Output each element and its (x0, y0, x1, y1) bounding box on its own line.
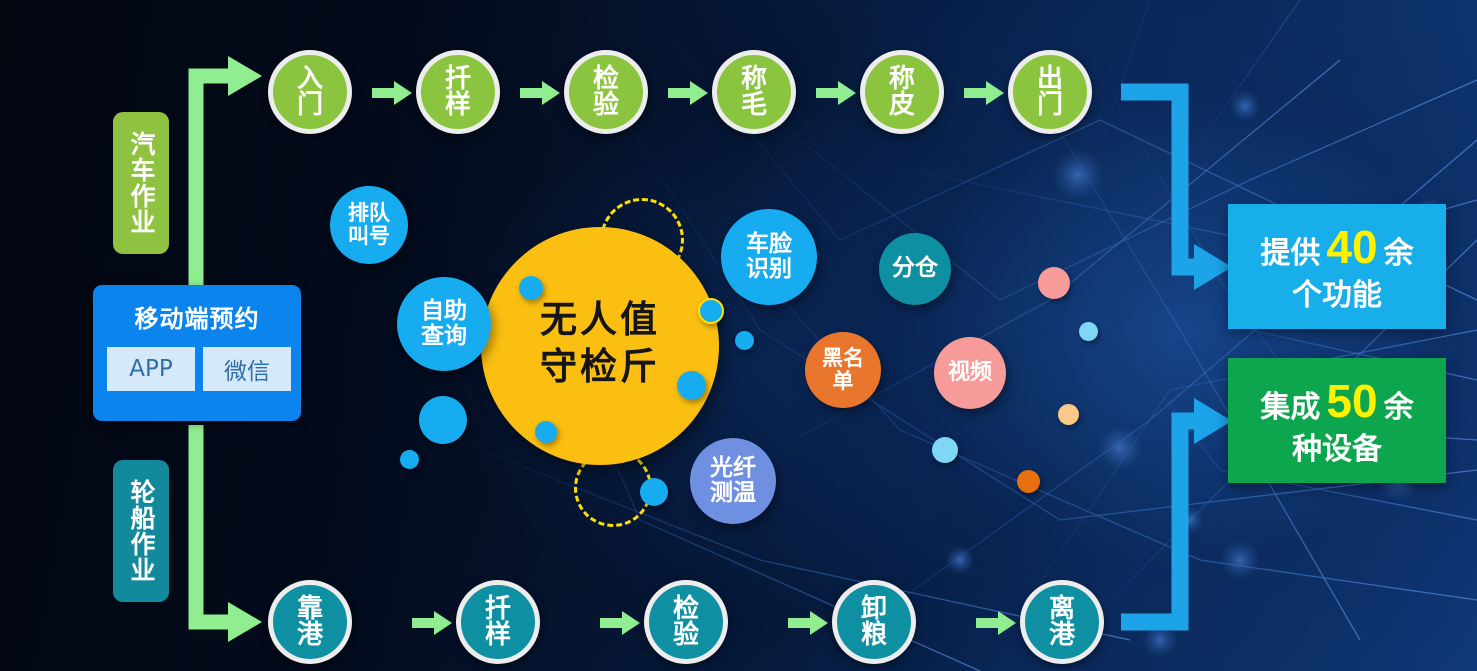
feature-bubble-label: 车脸 (746, 232, 792, 257)
devices-prefix: 集成 (1260, 389, 1320, 427)
feature-bubble-排队叫号[interactable]: 排队叫号 (330, 186, 408, 264)
flow-arrow (964, 80, 1004, 106)
feature-bubble-车脸识别[interactable]: 车脸识别 (721, 209, 817, 305)
flow-arrow (520, 80, 560, 106)
decorative-dot (1017, 470, 1040, 493)
process-node-label: 样 (445, 92, 471, 118)
process-node-卸粮[interactable]: 卸粮 (832, 580, 916, 664)
process-node-label: 卸 (861, 596, 887, 622)
process-node-称毛[interactable]: 称毛 (712, 50, 796, 134)
devices-count: 50 (1320, 373, 1383, 431)
car-lane-tag: 汽车作业 (113, 112, 169, 254)
flow-arrow (600, 610, 640, 636)
process-node-label: 扦 (485, 596, 511, 622)
mobile-booking-title: 移动端预约 (93, 299, 301, 334)
wechat-button[interactable]: 微信 (203, 347, 291, 391)
feature-bubble-黑名单[interactable]: 黑名单 (805, 332, 881, 408)
app-button[interactable]: APP (107, 347, 195, 391)
feature-bubble-label: 叫号 (348, 225, 390, 248)
decorative-dot (932, 437, 958, 463)
flow-arrow (788, 610, 828, 636)
process-node-label: 港 (297, 622, 323, 648)
flow-arrow (412, 610, 452, 636)
process-node-label: 样 (485, 622, 511, 648)
feature-bubble-label: 查询 (421, 324, 467, 349)
feature-bubble-label: 单 (822, 370, 864, 393)
functions-prefix: 提供 (1260, 235, 1320, 273)
devices-panel: 集成 50 余 种设备 (1228, 358, 1446, 483)
devices-panel-line-2: 种设备 (1292, 431, 1382, 469)
decorative-dot (535, 421, 557, 443)
process-node-label: 检 (593, 66, 619, 92)
process-node-label: 门 (1037, 92, 1063, 118)
process-node-出门[interactable]: 出门 (1008, 50, 1092, 134)
process-node-靠港[interactable]: 靠港 (268, 580, 352, 664)
flow-arrow (976, 610, 1016, 636)
decorative-dot (1058, 404, 1079, 425)
functions-suffix: 余 (1384, 235, 1414, 273)
feature-bubble-label: 排队 (348, 202, 390, 225)
process-node-label: 皮 (889, 92, 915, 118)
devices-panel-line-1: 集成 50 余 (1260, 373, 1413, 431)
decorative-dot (400, 450, 419, 469)
process-node-label: 港 (1049, 622, 1075, 648)
decorative-dot (1038, 267, 1070, 299)
feature-bubble-label: 视频 (948, 361, 992, 385)
functions-panel-line-2: 个功能 (1292, 277, 1382, 315)
process-node-label: 出 (1037, 66, 1063, 92)
process-node-label: 粮 (861, 622, 887, 648)
process-node-称皮[interactable]: 称皮 (860, 50, 944, 134)
mobile-booking-panel: 移动端预约 APP 微信 (93, 285, 301, 421)
functions-count: 40 (1320, 219, 1383, 277)
process-node-label: 扦 (445, 66, 471, 92)
process-node-检验[interactable]: 检验 (564, 50, 648, 134)
process-node-检验[interactable]: 检验 (644, 580, 728, 664)
process-node-label: 验 (593, 92, 619, 118)
feature-bubble-label: 测温 (710, 481, 756, 506)
decorative-dot (640, 478, 668, 506)
feature-bubble-label: 分仓 (892, 256, 938, 281)
infographic-canvas: 无人值 守检斤 排队叫号自助查询车脸识别分仓黑名单视频光纤测温 汽车作业 轮船作… (0, 0, 1477, 671)
flow-arrow (816, 80, 856, 106)
feature-bubble-自助查询[interactable]: 自助查询 (397, 277, 491, 371)
devices-suffix: 余 (1384, 389, 1414, 427)
flow-arrow (372, 80, 412, 106)
process-node-label: 靠 (297, 596, 323, 622)
center-title-line-1: 无人值 (481, 296, 719, 343)
process-node-label: 称 (741, 66, 767, 92)
process-node-label: 毛 (741, 92, 767, 118)
feature-bubble-label: 黑名 (822, 347, 864, 370)
process-node-label: 离 (1049, 596, 1075, 622)
center-title: 无人值 守检斤 (481, 296, 719, 391)
functions-panel-line-1: 提供 40 余 (1260, 219, 1413, 277)
decorative-dot (419, 396, 467, 444)
feature-bubble-分仓[interactable]: 分仓 (879, 233, 951, 305)
process-node-label: 称 (889, 66, 915, 92)
ship-lane-tag: 轮船作业 (113, 460, 169, 602)
feature-bubble-光纤测温[interactable]: 光纤测温 (690, 438, 776, 524)
center-title-line-2: 守检斤 (481, 343, 719, 390)
feature-bubble-label: 识别 (746, 257, 792, 282)
functions-panel: 提供 40 余 个功能 (1228, 204, 1446, 329)
decorative-dot (735, 331, 754, 350)
feature-bubble-label: 自助 (421, 299, 467, 324)
process-node-label: 验 (673, 622, 699, 648)
decorative-dot (1079, 322, 1098, 341)
process-node-扦样[interactable]: 扦样 (456, 580, 540, 664)
process-node-label: 检 (673, 596, 699, 622)
flow-arrow (668, 80, 708, 106)
feature-bubble-label: 光纤 (710, 456, 756, 481)
process-node-入门[interactable]: 入门 (268, 50, 352, 134)
feature-bubble-视频[interactable]: 视频 (934, 337, 1006, 409)
process-node-扦样[interactable]: 扦样 (416, 50, 500, 134)
process-node-label: 门 (297, 92, 323, 118)
process-node-离港[interactable]: 离港 (1020, 580, 1104, 664)
process-node-label: 入 (297, 66, 323, 92)
